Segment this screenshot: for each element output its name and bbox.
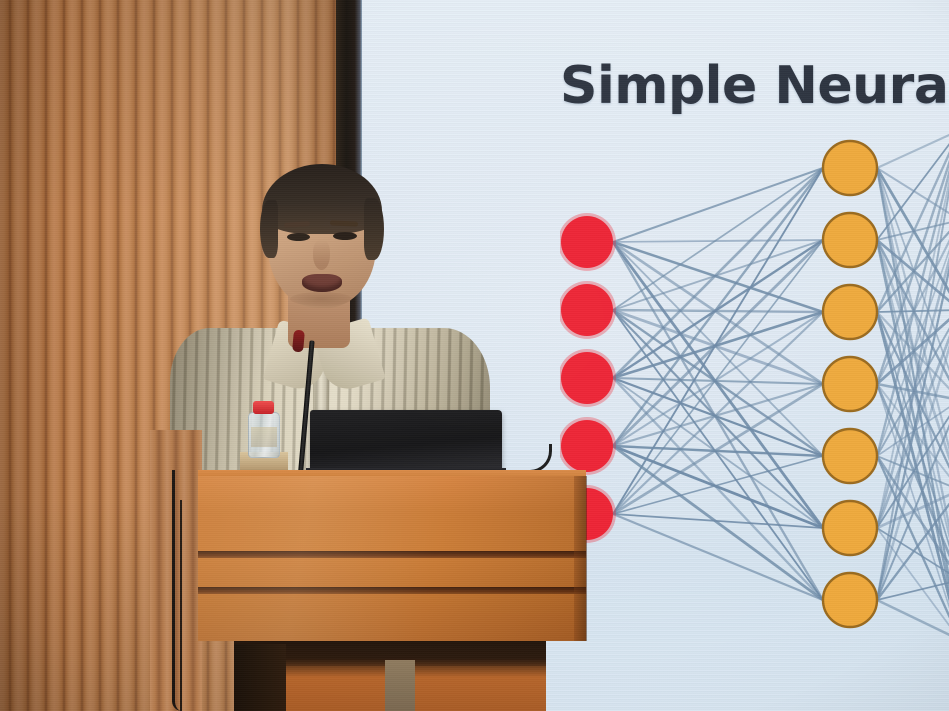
nn-input-node-4	[561, 420, 613, 472]
microphone-head	[292, 330, 305, 353]
nn-input-node-3	[561, 352, 613, 404]
presenter-hair-left	[260, 200, 278, 258]
nn-edge	[613, 446, 823, 600]
podium-base-left-shadow	[234, 644, 286, 711]
nn-output-edge-group	[877, 130, 949, 640]
nn-edge	[613, 242, 823, 384]
nn-hidden-node-1	[823, 141, 877, 195]
nn-hidden-node-2	[823, 213, 877, 267]
nn-edge	[877, 600, 949, 640]
nn-hidden-node-group	[823, 141, 877, 627]
nn-edge	[613, 240, 823, 514]
nn-hidden-node-6	[823, 501, 877, 555]
nn-edge	[613, 168, 823, 310]
nn-hidden-node-7	[823, 573, 877, 627]
podium-base-strip	[385, 660, 415, 711]
presenter-nose	[313, 240, 330, 270]
nn-input-node-1	[561, 216, 613, 268]
photo-scene: Simple Neura	[0, 0, 949, 711]
podium-sheen	[198, 476, 586, 641]
bottle-cap-icon	[253, 401, 274, 414]
presenter-eye-right	[333, 232, 357, 240]
nn-input-node-2	[561, 284, 613, 336]
presenter-hair-right	[364, 198, 384, 260]
nn-hidden-node-3	[823, 285, 877, 339]
nn-edge	[613, 240, 823, 242]
slide-title: Simple Neura	[560, 56, 948, 116]
nn-hidden-node-5	[823, 429, 877, 483]
nn-svg	[560, 110, 949, 650]
presenter-mouth	[302, 274, 342, 292]
nn-edge	[613, 168, 823, 242]
power-cable-secondary	[180, 500, 192, 711]
nn-edge-group	[613, 168, 823, 600]
laptop	[310, 410, 502, 472]
podium-right-edge	[574, 476, 587, 641]
presenter-chin-shadow	[290, 292, 352, 306]
nn-hidden-node-4	[823, 357, 877, 411]
presenter-eye-left	[287, 233, 310, 241]
nn-edge	[613, 378, 823, 600]
neural-network-diagram	[560, 110, 949, 650]
nn-edge	[877, 130, 949, 168]
water-bottle	[248, 412, 280, 458]
bottle-label	[251, 427, 277, 447]
nn-edge	[613, 242, 823, 312]
nn-edge	[613, 240, 823, 378]
nn-edge	[877, 490, 949, 600]
nn-edge	[613, 242, 823, 600]
